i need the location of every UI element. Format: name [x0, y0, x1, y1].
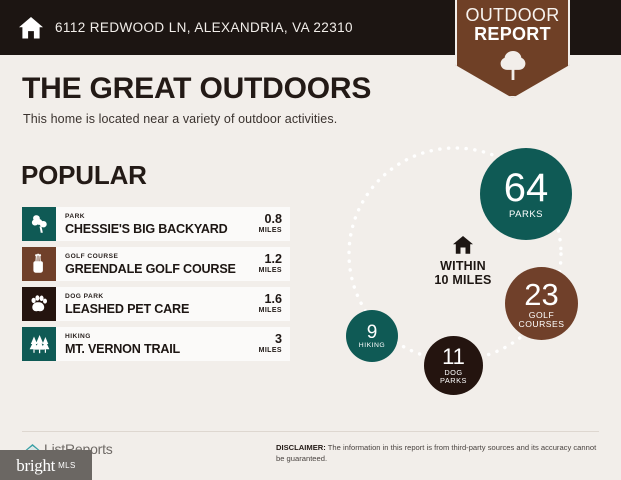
bubble-value: 11	[442, 346, 465, 368]
list-item-text: DOG PARK LEASHED PET CARE	[56, 287, 242, 321]
bubble-label-line-2: COURSES	[519, 320, 565, 329]
list-item[interactable]: DOG PARK LEASHED PET CARE 1.6 MILES	[22, 287, 290, 321]
list-item-name: CHESSIE'S BIG BACKYARD	[65, 222, 242, 236]
list-item[interactable]: PARK CHESSIE'S BIG BACKYARD 0.8 MILES	[22, 207, 290, 241]
within-10-miles-chart: WITHIN 10 MILES 64 PARKS 23 GOLF COURSES…	[305, 130, 621, 420]
page-title: THE GREAT OUTDOORS	[22, 72, 371, 106]
page-subtitle: This home is located near a variety of o…	[23, 112, 337, 126]
distance-value: 1.6	[264, 293, 282, 306]
center-line-1: WITHIN	[440, 259, 486, 273]
bubble-value: 64	[504, 168, 549, 208]
footer-divider	[22, 431, 599, 432]
list-item-category: PARK	[65, 213, 242, 221]
watermark-brand: bright	[16, 457, 55, 474]
outdoor-report-page: 6112 REDWOOD LN, ALEXANDRIA, VA 22310 OU…	[0, 0, 621, 480]
list-item[interactable]: HIKING MT. VERNON TRAIL 3 MILES	[22, 327, 290, 361]
bubble-value: 23	[524, 279, 558, 310]
list-item[interactable]: GOLF COURSE GREENDALE GOLF COURSE 1.2 MI…	[22, 247, 290, 281]
bubble-golf-courses: 23 GOLF COURSES	[505, 267, 578, 340]
bubble-label-line-2: PARKS	[440, 377, 467, 385]
park-tree-icon	[22, 207, 56, 241]
badge-line-1: OUTDOOR	[465, 6, 559, 25]
watermark-suffix: MLS	[58, 461, 76, 470]
list-item-name: MT. VERNON TRAIL	[65, 342, 242, 356]
list-item-text: PARK CHESSIE'S BIG BACKYARD	[56, 207, 242, 241]
list-item-name: LEASHED PET CARE	[65, 302, 242, 316]
home-icon	[18, 16, 44, 40]
tree-icon	[498, 49, 528, 81]
golf-bag-icon	[22, 247, 56, 281]
bright-mls-watermark: bright MLS	[0, 450, 92, 480]
popular-section-title: POPULAR	[21, 160, 147, 191]
bubble-parks: 64 PARKS	[480, 148, 572, 240]
home-icon	[452, 235, 474, 255]
outdoor-report-badge: OUTDOOR REPORT	[455, 0, 570, 98]
list-item-category: DOG PARK	[65, 293, 242, 301]
paw-print-icon	[22, 287, 56, 321]
bubble-label: HIKING	[359, 343, 385, 350]
distance-unit: MILES	[259, 266, 282, 275]
bubble-label: PARKS	[509, 210, 543, 220]
list-item-distance: 0.8 MILES	[242, 207, 290, 241]
list-item-text: GOLF COURSE GREENDALE GOLF COURSE	[56, 247, 242, 281]
disclaimer: DISCLAIMER: The information in this repo…	[276, 443, 598, 464]
popular-places-list: PARK CHESSIE'S BIG BACKYARD 0.8 MILES GO…	[22, 207, 290, 367]
bubble-value: 9	[367, 323, 378, 342]
distance-value: 0.8	[264, 213, 282, 226]
list-item-text: HIKING MT. VERNON TRAIL	[56, 327, 242, 361]
distance-value: 1.2	[264, 253, 282, 266]
list-item-distance: 1.2 MILES	[242, 247, 290, 281]
list-item-category: GOLF COURSE	[65, 253, 242, 261]
distance-unit: MILES	[259, 226, 282, 235]
distance-unit: MILES	[259, 346, 282, 355]
chart-center-label: WITHIN 10 MILES	[403, 235, 523, 287]
list-item-name: GREENDALE GOLF COURSE	[65, 262, 242, 276]
center-line-2: 10 MILES	[434, 273, 491, 287]
header-address-group: 6112 REDWOOD LN, ALEXANDRIA, VA 22310	[18, 0, 353, 55]
property-address: 6112 REDWOOD LN, ALEXANDRIA, VA 22310	[55, 20, 353, 35]
distance-unit: MILES	[259, 306, 282, 315]
list-item-distance: 3 MILES	[242, 327, 290, 361]
disclaimer-label: DISCLAIMER:	[276, 443, 326, 452]
distance-value: 3	[275, 333, 282, 346]
pine-trees-icon	[22, 327, 56, 361]
bubble-hiking: 9 HIKING	[346, 310, 398, 362]
list-item-distance: 1.6 MILES	[242, 287, 290, 321]
bubble-dog-parks: 11 DOG PARKS	[424, 336, 483, 395]
list-item-category: HIKING	[65, 333, 242, 341]
badge-line-2: REPORT	[474, 25, 551, 44]
